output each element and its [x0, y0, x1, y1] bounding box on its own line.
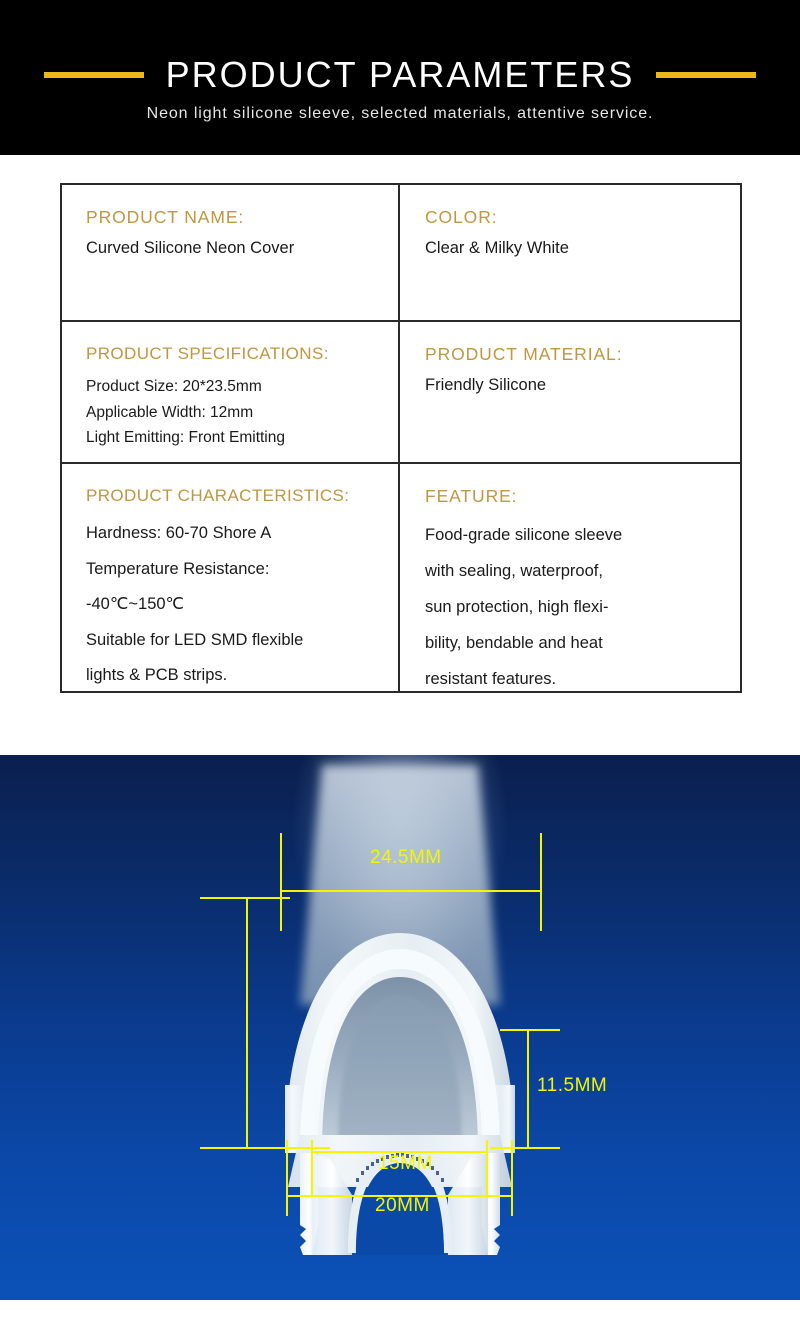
spec-line: Temperature Resistance:: [86, 552, 398, 588]
product-photo: 24.5MM 23.5MM 11.5MM 15MM 20MM: [0, 755, 800, 1300]
spec-line: sun protection, high flexi-: [425, 589, 742, 625]
spec-line: -40℃~150℃: [86, 587, 398, 623]
spec-value-feature: Food-grade silicone sleeve with sealing,…: [425, 517, 742, 691]
spec-heading-product-name: PRODUCT NAME:: [86, 207, 398, 228]
spec-value-product-characteristics: Hardness: 60-70 Shore A Temperature Resi…: [86, 516, 398, 691]
spec-cell-product-name: PRODUCT NAME: Curved Silicone Neon Cover: [62, 185, 400, 322]
spec-cell-color: COLOR: Clear & Milky White: [400, 185, 742, 322]
spec-value-color: Clear & Milky White: [425, 238, 742, 258]
spec-value-product-name: Curved Silicone Neon Cover: [86, 238, 398, 258]
spec-heading-product-characteristics: PRODUCT CHARACTERISTICS:: [86, 486, 398, 506]
spec-heading-product-specifications: PRODUCT SPECIFICATIONS:: [86, 344, 398, 364]
spec-heading-feature: FEATURE:: [425, 486, 742, 507]
header-banner: PRODUCT PARAMETERS Neon light silicone s…: [0, 0, 800, 155]
spec-line: Food-grade silicone sleeve: [425, 517, 742, 553]
page-title: PRODUCT PARAMETERS: [166, 54, 635, 96]
spec-line: Curved Silicone Neon Cover: [86, 238, 398, 258]
spec-cell-feature: FEATURE: Food-grade silicone sleeve with…: [400, 464, 742, 691]
spec-heading-product-material: PRODUCT MATERIAL:: [425, 344, 742, 365]
spec-line: bility, bendable and heat: [425, 625, 742, 661]
header-title-row: PRODUCT PARAMETERS: [0, 52, 800, 98]
spec-line: Suitable for LED SMD flexible: [86, 623, 398, 659]
spec-line: Product Size: 20*23.5mm: [86, 374, 398, 400]
spec-line: Light Emitting: Front Emitting: [86, 425, 398, 451]
spec-line: resistant features.: [425, 661, 742, 691]
spec-line: Clear & Milky White: [425, 238, 742, 258]
spec-line: Friendly Silicone: [425, 375, 742, 395]
dimension-label-outer-width: 24.5MM: [370, 847, 442, 869]
spec-line: lights & PCB strips.: [86, 658, 398, 691]
spec-cell-product-material: PRODUCT MATERIAL: Friendly Silicone: [400, 322, 742, 464]
spec-line: Applicable Width: 12mm: [86, 400, 398, 426]
dimension-lines-svg: [0, 755, 800, 1300]
spec-cell-product-specifications: PRODUCT SPECIFICATIONS: Product Size: 20…: [62, 322, 400, 464]
spec-value-product-material: Friendly Silicone: [425, 375, 742, 395]
dimension-annotations: 24.5MM 23.5MM 11.5MM 15MM 20MM: [0, 755, 800, 1300]
rule-right-decoration: [656, 72, 756, 78]
spec-heading-color: COLOR:: [425, 207, 742, 228]
spec-line: with sealing, waterproof,: [425, 553, 742, 589]
dimension-label-leg-height: 11.5MM: [537, 1075, 607, 1097]
specification-table: PRODUCT NAME: Curved Silicone Neon Cover…: [60, 183, 742, 693]
spec-line: Hardness: 60-70 Shore A: [86, 516, 398, 552]
dimension-label-base-width: 20MM: [375, 1195, 430, 1217]
spec-cell-product-characteristics: PRODUCT CHARACTERISTICS: Hardness: 60-70…: [62, 464, 400, 691]
spec-value-product-specifications: Product Size: 20*23.5mm Applicable Width…: [86, 374, 398, 451]
page-subtitle: Neon light silicone sleeve, selected mat…: [0, 105, 800, 123]
dimension-label-inner-width: 15MM: [378, 1153, 433, 1175]
rule-left-decoration: [44, 72, 144, 78]
